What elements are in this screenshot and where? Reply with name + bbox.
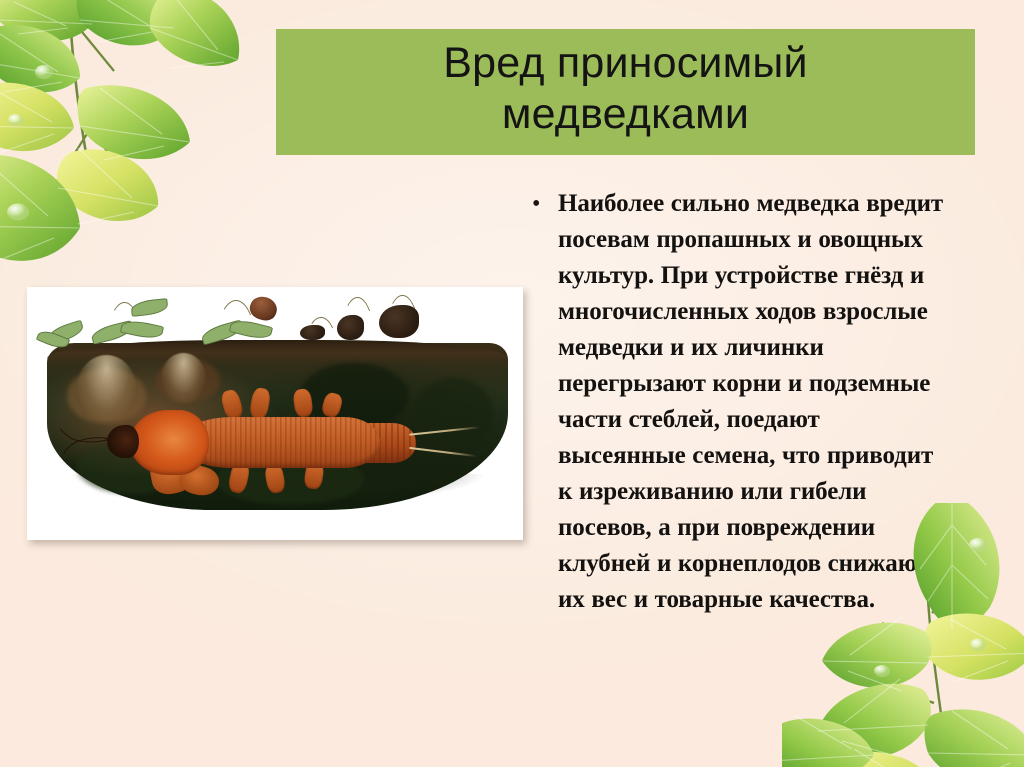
title-banner: Вред приносимый медведками bbox=[276, 29, 975, 155]
leaf bbox=[782, 719, 874, 767]
leaf bbox=[77, 0, 174, 45]
dew-drop bbox=[874, 665, 890, 677]
withered-pod bbox=[300, 325, 325, 340]
leaf bbox=[0, 25, 80, 92]
list-item: • Наиболее сильно медведка вредит посева… bbox=[528, 186, 948, 618]
insect-pronotum bbox=[130, 410, 209, 475]
insect-leg bbox=[292, 388, 314, 418]
leaf bbox=[925, 709, 1024, 767]
illustration-frame[interactable] bbox=[27, 287, 523, 540]
leaf bbox=[0, 83, 74, 151]
seedling-leaf bbox=[130, 298, 168, 316]
leaf bbox=[78, 85, 190, 159]
withered-pod bbox=[379, 305, 419, 338]
illustration-image bbox=[27, 287, 523, 540]
leaf-veins bbox=[0, 0, 238, 268]
mole-cricket-insect bbox=[101, 388, 458, 499]
dew-drop bbox=[970, 639, 986, 652]
leaf bbox=[57, 149, 158, 221]
leaf bbox=[0, 0, 92, 41]
dew-drop bbox=[35, 65, 53, 79]
page-title-line-1: Вред приносимый bbox=[443, 38, 808, 89]
page-title-line-2: медведками bbox=[502, 89, 749, 140]
slide-canvas: Вред приносимый медведками • Наиболее си… bbox=[0, 0, 1024, 767]
withered-pod bbox=[337, 315, 364, 340]
insect-leg bbox=[320, 391, 344, 419]
leaf bbox=[825, 752, 940, 767]
dew-drop bbox=[969, 538, 987, 552]
leaf bbox=[150, 0, 239, 66]
leaf bbox=[0, 155, 80, 261]
bullet-glyph: • bbox=[528, 186, 558, 222]
leaf-cluster-top-left bbox=[0, 0, 274, 296]
leaf bbox=[818, 684, 931, 758]
bullet-paragraph: Наиболее сильно медведка вредит посевам … bbox=[558, 186, 948, 618]
leaf-stems bbox=[34, 0, 124, 196]
leaf bbox=[925, 614, 1024, 680]
leaf bbox=[822, 623, 931, 688]
insect-thorax-wings bbox=[180, 417, 380, 468]
content-text-block: • Наиболее сильно медведка вредит посева… bbox=[528, 186, 948, 618]
insect-head bbox=[107, 425, 139, 458]
dew-drop bbox=[7, 204, 29, 221]
dew-drop bbox=[8, 114, 24, 126]
insect-leg bbox=[249, 387, 272, 421]
